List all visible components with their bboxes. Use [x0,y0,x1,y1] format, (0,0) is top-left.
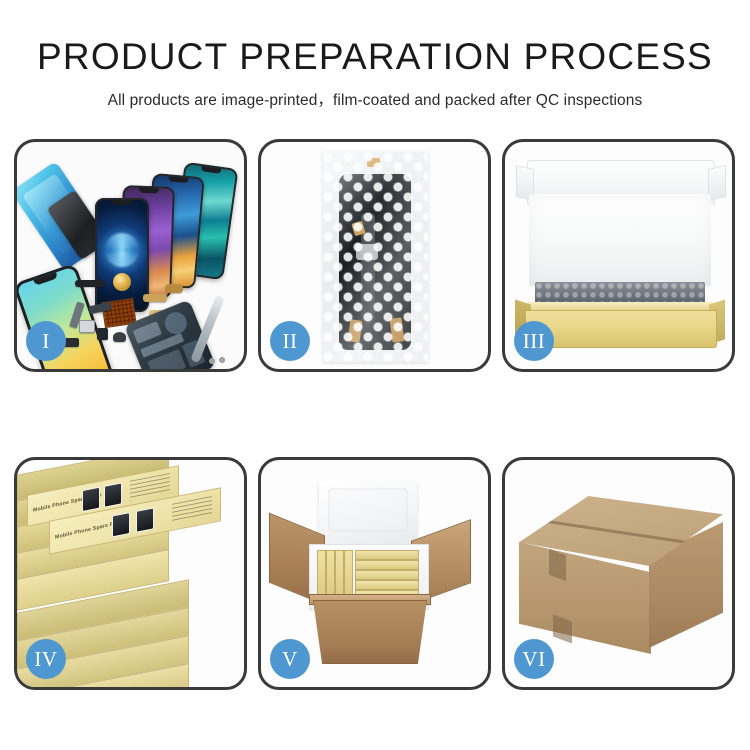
process-step-panel-1[interactable]: I [14,139,247,372]
box-spec-lines-icon [172,496,212,524]
process-step-panel-4[interactable]: Mobile Phone Spare Parts Mobile Phone Sp… [14,457,247,690]
box-artwork-screen-icon [104,482,122,507]
process-step-panel-6[interactable]: VI [502,457,735,690]
bubble-wrap-bag-icon [323,152,428,362]
process-step-grid: I II III [14,139,736,690]
carton-front-panel-icon [313,600,427,664]
step-number-badge: VI [514,639,554,679]
phone-notch-icon [201,166,222,174]
phone-notch-icon [112,200,132,205]
box-artwork-screen-icon [136,507,154,532]
page-header: PRODUCT PREPARATION PROCESS All products… [0,0,750,110]
box-artwork-screen-icon [112,512,130,537]
phone-notch-icon [139,188,159,194]
component-chip-icon [113,332,126,342]
screws-icon [209,356,227,366]
foam-lid-icon [319,480,417,548]
phone-notch-icon [168,176,188,183]
step-number-badge: II [270,321,310,361]
box-spec-lines-icon [130,473,170,501]
step-number-badge: IV [26,639,66,679]
phone-device-1-icon [95,198,149,312]
step-number-badge: III [514,321,554,361]
page-subtitle: All products are image-printed，film-coat… [0,88,750,110]
process-step-panel-5[interactable]: V [258,457,491,690]
step-number-badge: V [270,639,310,679]
process-step-panel-3[interactable]: III [502,139,735,372]
process-step-panel-2[interactable]: II [258,139,491,372]
foam-sheet-icon [529,194,711,286]
component-chip-icon [97,328,108,340]
flex-cable-icon [143,294,167,302]
box-artwork-screen-icon [82,487,100,512]
component-chip-icon [79,320,95,333]
flex-cable-icon [165,284,183,293]
plastic-sheen-icon [323,152,428,362]
speaker-coil-icon [113,273,131,291]
component-chip-icon [75,280,105,287]
page-title: PRODUCT PREPARATION PROCESS [0,38,750,75]
step-number-badge: I [26,321,66,361]
